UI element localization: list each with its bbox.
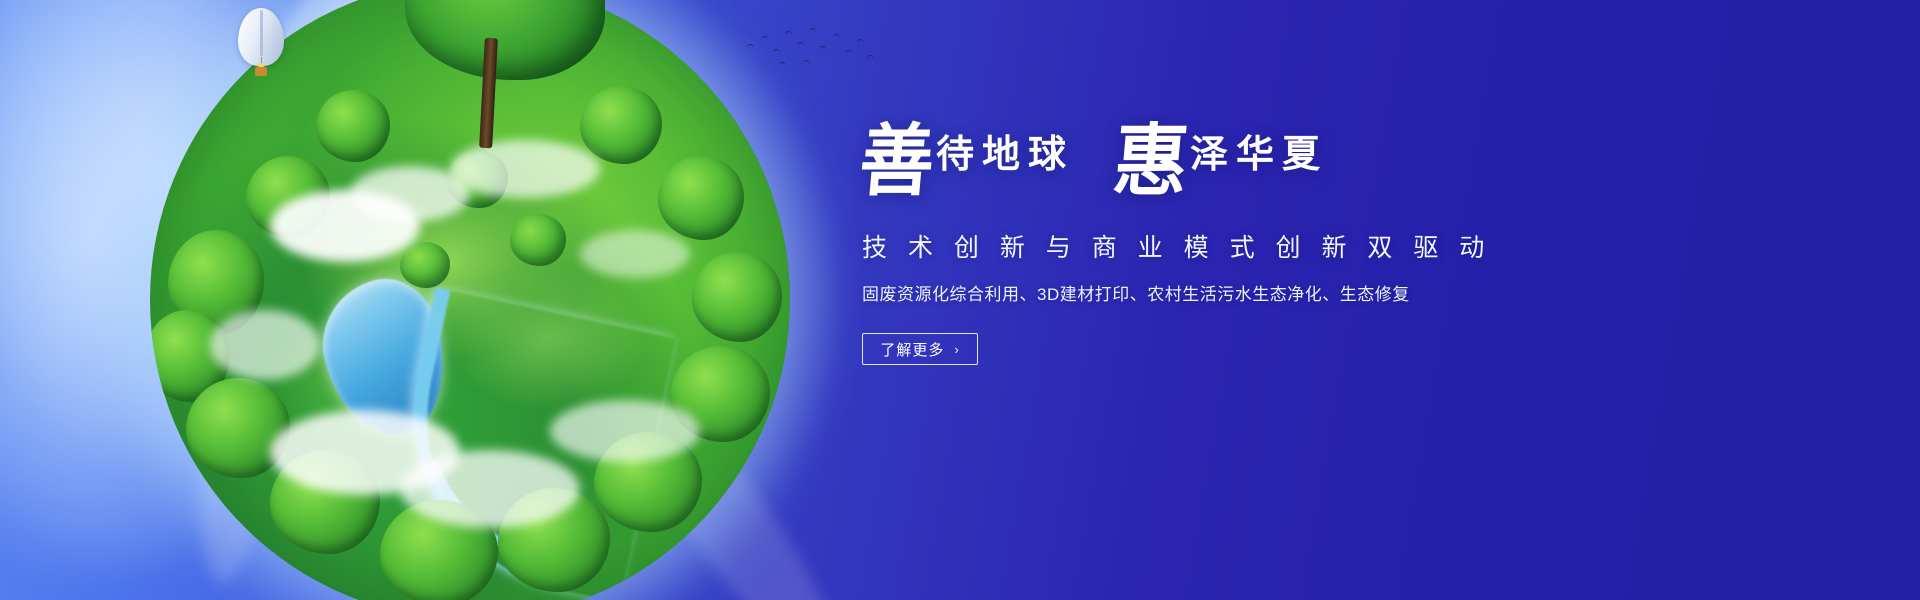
tiny-planet-illustration [150, 0, 790, 600]
bird-icon [773, 49, 781, 55]
tree [316, 90, 390, 162]
subtitle: 技 术 创 新 与 商 业 模 式 创 新 双 驱 动 [862, 232, 1482, 266]
bird-icon [809, 28, 817, 34]
tree [692, 252, 782, 342]
tree [400, 242, 450, 288]
cloud [400, 450, 580, 528]
bird-icon [785, 31, 793, 37]
balloon-basket [255, 67, 267, 76]
learn-more-button[interactable]: 了解更多 › [862, 333, 978, 365]
bird-flock [745, 22, 875, 70]
description: 固废资源化综合利用、3D建材打印、农村生活污水生态净化、生态修复 [862, 282, 1482, 308]
headline-rest-2: 泽华夏 [1190, 135, 1328, 173]
bird-icon [803, 60, 811, 66]
headline-brush-char-2: 惠 [1110, 122, 1191, 200]
chevron-right-icon: › [954, 342, 959, 357]
headline-brush-char-1: 善 [856, 122, 937, 200]
bird-icon [797, 42, 805, 48]
cloud [550, 400, 700, 462]
hot-air-balloon-icon [238, 8, 284, 66]
tree [510, 214, 566, 266]
bird-icon [779, 62, 787, 68]
globe [150, 0, 790, 600]
bird-icon [857, 39, 865, 45]
bird-icon [747, 44, 755, 50]
bird-icon [845, 50, 853, 56]
tree [580, 86, 662, 164]
headline-rest-1: 待地球 [936, 135, 1074, 173]
bird-icon [833, 34, 841, 40]
bird-icon [867, 55, 875, 61]
balloon-stripe [260, 10, 263, 55]
hero-copy: 善待地球惠泽华夏 技 术 创 新 与 商 业 模 式 创 新 双 驱 动 固废资… [862, 126, 1482, 365]
bird-icon [819, 46, 827, 52]
headline: 善待地球惠泽华夏 [862, 126, 1482, 218]
tree [658, 156, 744, 240]
bird-icon [761, 36, 769, 42]
cloud [580, 230, 690, 278]
learn-more-label: 了解更多 [880, 339, 944, 360]
hero-banner: 善待地球惠泽华夏 技 术 创 新 与 商 业 模 式 创 新 双 驱 动 固废资… [0, 0, 1920, 600]
cloud [450, 140, 600, 198]
cloud [210, 310, 320, 380]
